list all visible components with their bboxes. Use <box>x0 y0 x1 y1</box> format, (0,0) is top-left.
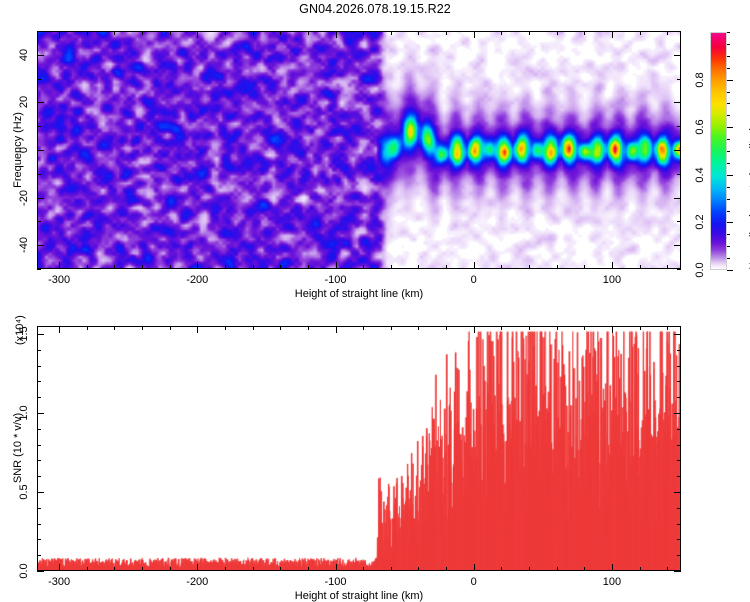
x-minor-tick <box>87 326 88 330</box>
colorbar-tick-label: 0.6 <box>694 120 706 135</box>
y-minor-tick <box>677 429 681 430</box>
x-minor-tick <box>640 326 641 330</box>
y-minor-tick <box>37 445 41 446</box>
x-minor-tick <box>280 31 281 35</box>
colorbar-major-tick <box>727 175 733 176</box>
y-minor-tick <box>677 445 681 446</box>
x-minor-tick <box>225 265 226 269</box>
y-minor-tick <box>677 31 681 32</box>
y-tick-label: 20 <box>18 96 30 108</box>
x-minor-tick <box>557 326 558 330</box>
x-minor-tick <box>308 265 309 269</box>
y-major-tick <box>674 413 681 414</box>
y-minor-tick <box>677 381 681 382</box>
y-major-tick <box>674 245 681 246</box>
y-tick-label: 0.0 <box>18 563 30 578</box>
colorbar-minor-tick <box>727 68 730 69</box>
y-major-tick <box>37 245 44 246</box>
x-major-tick <box>612 326 613 333</box>
x-minor-tick <box>87 265 88 269</box>
x-minor-tick <box>640 567 641 571</box>
x-minor-tick <box>225 31 226 35</box>
x-minor-tick <box>640 265 641 269</box>
colorbar-tick-label: 0.8 <box>694 72 706 87</box>
colorbar-minor-tick <box>727 44 730 45</box>
x-minor-tick <box>501 567 502 571</box>
x-minor-tick <box>584 326 585 330</box>
x-minor-tick <box>418 265 419 269</box>
x-major-tick <box>197 326 198 333</box>
colorbar-minor-tick <box>727 151 730 152</box>
x-minor-tick <box>667 326 668 330</box>
x-minor-tick <box>363 265 364 269</box>
x-major-tick <box>336 564 337 571</box>
x-minor-tick <box>142 31 143 35</box>
colorbar-minor-tick <box>727 92 730 93</box>
x-tick-label: -200 <box>186 274 208 286</box>
y-minor-tick <box>37 397 41 398</box>
y-major-tick <box>674 150 681 151</box>
colorbar-minor-tick <box>727 187 730 188</box>
x-tick-label: 100 <box>603 576 621 588</box>
colorbar-minor-tick <box>727 56 730 57</box>
x-minor-tick <box>501 326 502 330</box>
y-minor-tick <box>677 397 681 398</box>
y-major-tick <box>37 334 44 335</box>
x-major-tick <box>197 564 198 571</box>
x-minor-tick <box>391 326 392 330</box>
x-minor-tick <box>253 326 254 330</box>
x-major-tick <box>474 564 475 571</box>
x-minor-tick <box>363 567 364 571</box>
x-minor-tick <box>114 326 115 330</box>
y-minor-tick <box>37 79 41 80</box>
page-title: GN04.2026.078.19.15.R22 <box>0 2 750 16</box>
colorbar <box>710 32 727 270</box>
x-minor-tick <box>418 567 419 571</box>
y-major-tick <box>674 198 681 199</box>
x-minor-tick <box>280 326 281 330</box>
colorbar-minor-tick <box>727 103 730 104</box>
colorbar-minor-tick <box>727 258 730 259</box>
y-minor-tick <box>677 366 681 367</box>
x-minor-tick <box>170 326 171 330</box>
colorbar-tick-label: 0.2 <box>694 215 706 230</box>
x-minor-tick <box>557 265 558 269</box>
colorbar-minor-tick <box>727 234 730 235</box>
colorbar-tick-label: 0.0 <box>694 262 706 277</box>
x-minor-tick <box>253 567 254 571</box>
y-tick-label: -20 <box>18 190 30 206</box>
colorbar-minor-tick <box>727 211 730 212</box>
x-minor-tick <box>87 31 88 35</box>
colorbar-major-tick <box>727 270 733 271</box>
x-minor-tick <box>114 567 115 571</box>
x-minor-tick <box>584 567 585 571</box>
colorbar-minor-tick <box>727 139 730 140</box>
y-minor-tick <box>677 476 681 477</box>
y-major-tick <box>674 334 681 335</box>
y-minor-tick <box>677 79 681 80</box>
spectrogram-y-axis-title: Frequency (Hz) <box>12 112 24 188</box>
x-minor-tick <box>557 567 558 571</box>
x-minor-tick <box>446 567 447 571</box>
x-tick-label: 0 <box>471 576 477 588</box>
x-major-tick <box>474 262 475 269</box>
x-tick-label: 0 <box>471 274 477 286</box>
x-minor-tick <box>446 265 447 269</box>
x-minor-tick <box>640 31 641 35</box>
x-minor-tick <box>501 31 502 35</box>
x-minor-tick <box>87 567 88 571</box>
x-minor-tick <box>308 567 309 571</box>
x-minor-tick <box>253 31 254 35</box>
y-minor-tick <box>37 366 41 367</box>
y-minor-tick <box>37 350 41 351</box>
x-major-tick <box>197 262 198 269</box>
x-major-tick <box>612 564 613 571</box>
y-minor-tick <box>677 174 681 175</box>
y-major-tick <box>674 492 681 493</box>
x-minor-tick <box>584 31 585 35</box>
y-minor-tick <box>677 524 681 525</box>
y-minor-tick <box>37 174 41 175</box>
x-minor-tick <box>170 31 171 35</box>
y-major-tick <box>37 150 44 151</box>
colorbar-major-tick <box>727 80 733 81</box>
y-major-tick <box>37 102 44 103</box>
x-tick-label: -100 <box>324 576 346 588</box>
x-minor-tick <box>391 265 392 269</box>
x-minor-tick <box>529 265 530 269</box>
x-minor-tick <box>363 31 364 35</box>
x-major-tick <box>612 31 613 38</box>
x-minor-tick <box>418 326 419 330</box>
x-minor-tick <box>584 265 585 269</box>
x-major-tick <box>474 326 475 333</box>
colorbar-major-tick <box>727 222 733 223</box>
x-minor-tick <box>391 567 392 571</box>
x-major-tick <box>612 262 613 269</box>
colorbar-minor-tick <box>727 115 730 116</box>
x-minor-tick <box>446 326 447 330</box>
y-minor-tick <box>677 539 681 540</box>
x-minor-tick <box>557 31 558 35</box>
x-major-tick <box>59 564 60 571</box>
snr-y-multiplier-label: (x10⁴) <box>14 315 26 345</box>
y-minor-tick <box>37 524 41 525</box>
x-minor-tick <box>391 31 392 35</box>
x-tick-label: 100 <box>603 274 621 286</box>
y-minor-tick <box>677 126 681 127</box>
snr-trace <box>38 327 680 570</box>
y-minor-tick <box>37 460 41 461</box>
x-minor-tick <box>308 31 309 35</box>
x-minor-tick <box>142 567 143 571</box>
y-minor-tick <box>37 508 41 509</box>
x-major-tick <box>197 31 198 38</box>
y-minor-tick <box>677 350 681 351</box>
y-tick-label: 0.5 <box>18 484 30 499</box>
x-minor-tick <box>529 567 530 571</box>
x-minor-tick <box>501 265 502 269</box>
y-major-tick <box>674 571 681 572</box>
x-minor-tick <box>114 31 115 35</box>
y-minor-tick <box>37 221 41 222</box>
x-minor-tick <box>363 326 364 330</box>
x-minor-tick <box>446 31 447 35</box>
colorbar-tick-label: 0.4 <box>694 167 706 182</box>
spectrogram-x-axis-title: Height of straight line (km) <box>295 288 423 300</box>
y-tick-label: -40 <box>18 237 30 253</box>
y-major-tick <box>37 413 44 414</box>
x-minor-tick <box>114 265 115 269</box>
x-minor-tick <box>225 326 226 330</box>
x-minor-tick <box>280 265 281 269</box>
x-major-tick <box>59 31 60 38</box>
x-tick-label: -300 <box>48 576 70 588</box>
x-major-tick <box>474 31 475 38</box>
y-major-tick <box>37 571 44 572</box>
y-major-tick <box>37 492 44 493</box>
y-minor-tick <box>677 460 681 461</box>
x-minor-tick <box>170 265 171 269</box>
x-minor-tick <box>529 326 530 330</box>
colorbar-minor-tick <box>727 246 730 247</box>
y-major-tick <box>37 55 44 56</box>
x-minor-tick <box>280 567 281 571</box>
x-major-tick <box>59 262 60 269</box>
snr-x-axis-title: Height of straight line (km) <box>295 590 423 602</box>
y-minor-tick <box>677 221 681 222</box>
x-major-tick <box>336 326 337 333</box>
y-major-tick <box>674 55 681 56</box>
y-minor-tick <box>677 555 681 556</box>
figure-root: GN04.2026.078.19.15.R22 -300-200-1000100… <box>0 0 750 600</box>
colorbar-gradient <box>711 33 726 269</box>
y-minor-tick <box>37 429 41 430</box>
x-tick-label: -200 <box>186 576 208 588</box>
y-minor-tick <box>37 555 41 556</box>
colorbar-minor-tick <box>727 32 730 33</box>
spectrogram-image <box>38 32 680 268</box>
x-minor-tick <box>667 31 668 35</box>
y-minor-tick <box>677 508 681 509</box>
x-minor-tick <box>142 326 143 330</box>
x-major-tick <box>336 31 337 38</box>
y-major-tick <box>674 102 681 103</box>
x-minor-tick <box>170 567 171 571</box>
y-minor-tick <box>37 381 41 382</box>
colorbar-minor-tick <box>727 199 730 200</box>
x-minor-tick <box>667 265 668 269</box>
y-minor-tick <box>37 269 41 270</box>
x-major-tick <box>59 326 60 333</box>
colorbar-minor-tick <box>727 163 730 164</box>
x-minor-tick <box>253 265 254 269</box>
x-minor-tick <box>418 31 419 35</box>
x-minor-tick <box>225 567 226 571</box>
snr-plot-area <box>37 326 681 571</box>
y-tick-label: 40 <box>18 49 30 61</box>
x-tick-label: -100 <box>324 274 346 286</box>
x-minor-tick <box>667 567 668 571</box>
x-minor-tick <box>142 265 143 269</box>
spectrogram-plot-area <box>37 31 681 269</box>
y-major-tick <box>37 198 44 199</box>
y-minor-tick <box>37 126 41 127</box>
y-minor-tick <box>677 269 681 270</box>
x-tick-label: -300 <box>48 274 70 286</box>
x-minor-tick <box>529 31 530 35</box>
snr-y-axis-title: SNR (10 * v/v) <box>12 413 24 483</box>
colorbar-major-tick <box>727 127 733 128</box>
y-minor-tick <box>37 476 41 477</box>
x-minor-tick <box>308 326 309 330</box>
x-major-tick <box>336 262 337 269</box>
y-minor-tick <box>37 31 41 32</box>
y-minor-tick <box>37 539 41 540</box>
